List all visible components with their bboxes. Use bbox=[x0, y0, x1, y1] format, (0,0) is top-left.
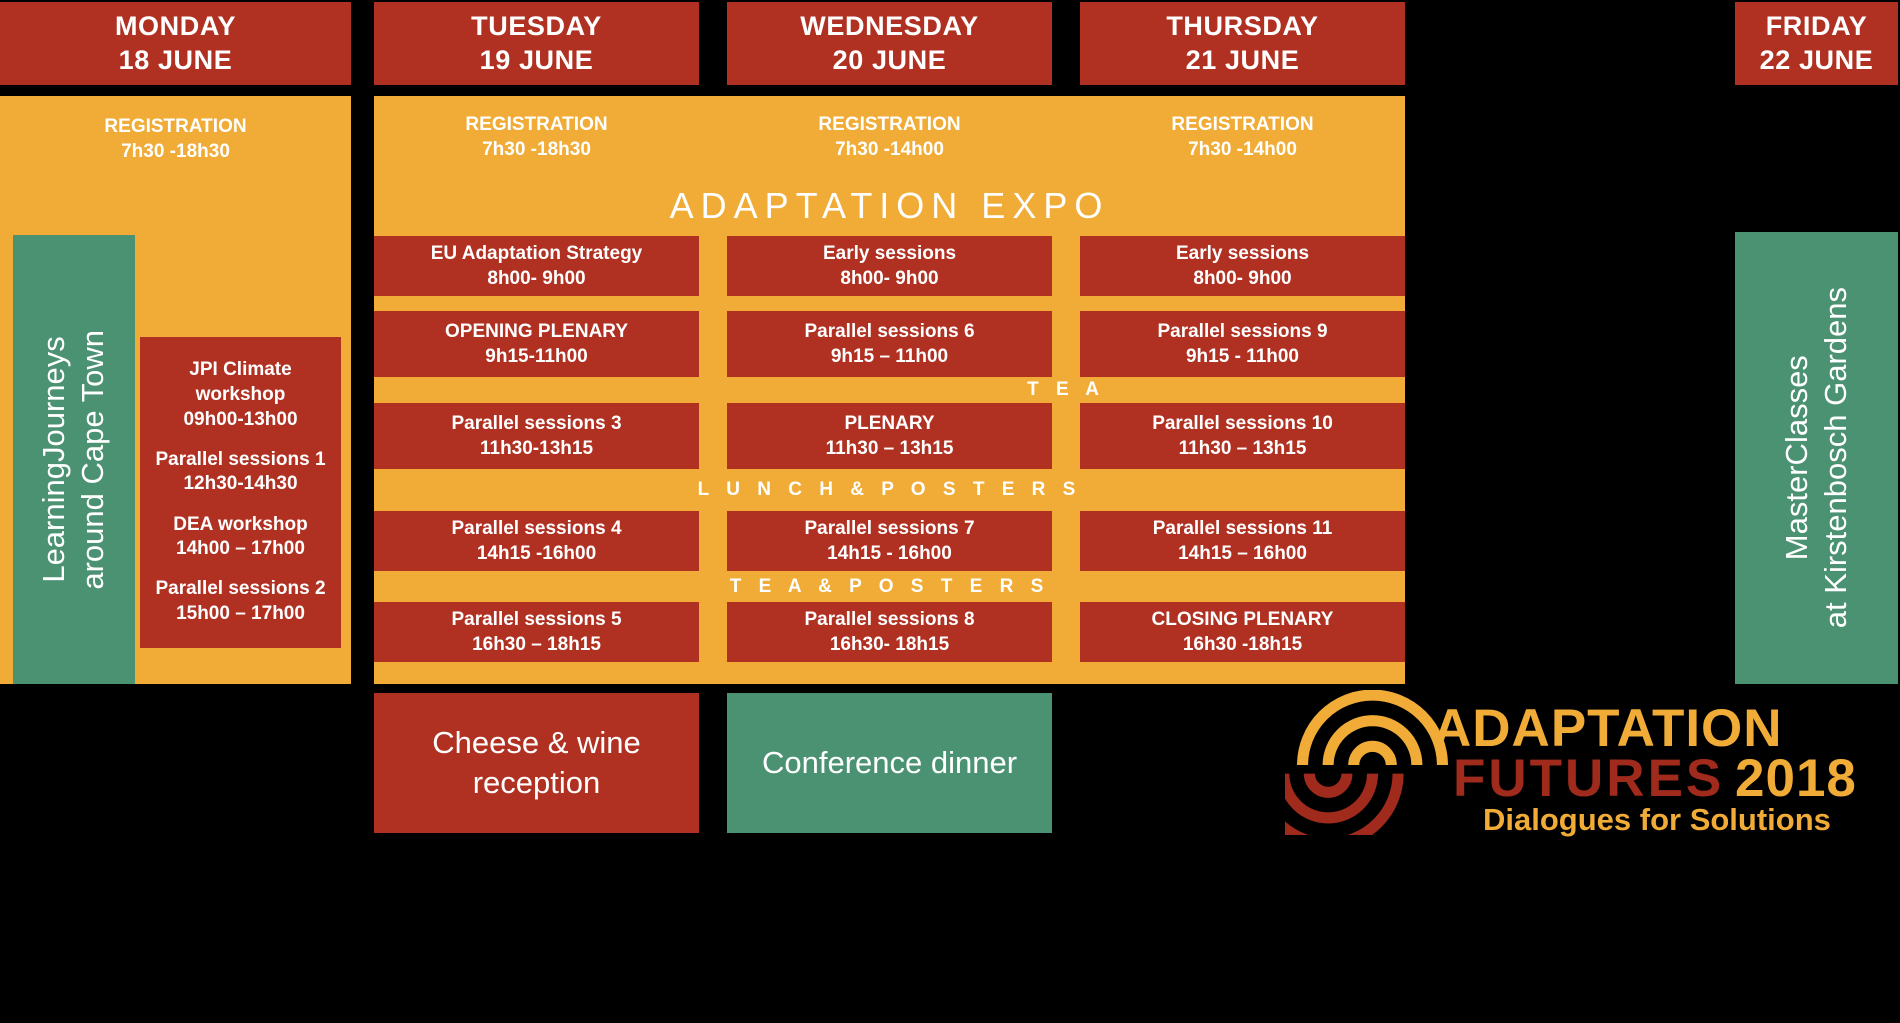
session-title: Parallel sessions 9 bbox=[1157, 319, 1327, 344]
registration-label: REGISTRATION bbox=[104, 115, 246, 140]
registration-time: 7h30 -14h00 bbox=[1188, 138, 1297, 163]
session-time: 12h30-14h30 bbox=[155, 472, 325, 497]
tea-break-band: T E A bbox=[727, 377, 1405, 403]
session-time: 11h30-13h15 bbox=[480, 436, 593, 461]
schedule-poster: MONDAY 18 JUNE TUESDAY 19 JUNE WEDNESDAY… bbox=[0, 0, 1900, 1023]
logo-line-year: 2018 bbox=[1735, 748, 1857, 809]
session-time: 9h15 – 11h00 bbox=[831, 344, 948, 369]
session-title: Parallel sessions 7 bbox=[804, 516, 974, 541]
day-header-thursday: THURSDAY 21 JUNE bbox=[1080, 2, 1405, 85]
adaptation-expo-banner: ADAPTATION EXPO bbox=[374, 180, 1405, 232]
session-time: 11h30 – 13h15 bbox=[1179, 436, 1307, 461]
conference-dinner: Conference dinner bbox=[727, 693, 1052, 833]
session-title: Parallel sessions 10 bbox=[1152, 411, 1333, 436]
day-header-monday: MONDAY 18 JUNE bbox=[0, 2, 351, 85]
registration-time: 7h30 -18h30 bbox=[121, 140, 230, 165]
session-time: 16h30 -18h15 bbox=[1183, 632, 1302, 657]
session-time: 16h30 – 18h15 bbox=[472, 632, 601, 657]
day-name: WEDNESDAY bbox=[800, 11, 978, 43]
registration-label: REGISTRATION bbox=[465, 113, 607, 138]
logo-line-tagline: Dialogues for Solutions bbox=[1483, 802, 1831, 838]
thursday-session-4: Parallel sessions 11 14h15 – 16h00 bbox=[1080, 511, 1405, 571]
session-time: 14h15 - 16h00 bbox=[827, 541, 952, 566]
session-title: Parallel sessions 6 bbox=[804, 319, 974, 344]
day-date: 22 JUNE bbox=[1760, 45, 1874, 77]
session-time: 9h15 - 11h00 bbox=[1186, 344, 1299, 369]
thursday-session-2: Parallel sessions 9 9h15 - 11h00 bbox=[1080, 311, 1405, 377]
day-date: 18 JUNE bbox=[119, 45, 233, 77]
tuesday-session-1: EU Adaptation Strategy 8h00- 9h00 bbox=[374, 236, 699, 296]
day-name: MONDAY bbox=[115, 11, 236, 43]
monday-sessions-block: JPI Climate workshop 09h00-13h00 Paralle… bbox=[140, 337, 341, 648]
masterclasses-label: MasterClasses at Kirstenbosch Gardens bbox=[1778, 287, 1856, 628]
thursday-session-3: Parallel sessions 10 11h30 – 13h15 bbox=[1080, 403, 1405, 469]
day-name: FRIDAY bbox=[1766, 11, 1868, 43]
lunch-posters-label: L U N C H & P O S T E R S bbox=[698, 479, 1082, 501]
session-time: 09h00-13h00 bbox=[183, 408, 297, 433]
wednesday-session-1: Early sessions 8h00- 9h00 bbox=[727, 236, 1052, 296]
session-time: 14h15 – 16h00 bbox=[1178, 541, 1307, 566]
masterclasses-block: MasterClasses at Kirstenbosch Gardens bbox=[1735, 232, 1898, 684]
tea-break-label: T E A bbox=[1027, 379, 1105, 401]
wednesday-session-5: Parallel sessions 8 16h30- 18h15 bbox=[727, 602, 1052, 662]
registration-label: REGISTRATION bbox=[818, 113, 960, 138]
monday-session-item: Parallel sessions 1 12h30-14h30 bbox=[155, 446, 325, 499]
session-title: EU Adaptation Strategy bbox=[431, 241, 643, 266]
session-time: 15h00 – 17h00 bbox=[155, 602, 325, 627]
tuesday-session-2: OPENING PLENARY 9h15-11h00 bbox=[374, 311, 699, 377]
registration-label: REGISTRATION bbox=[1171, 113, 1313, 138]
session-title: Parallel sessions 3 bbox=[451, 411, 621, 436]
session-time: 14h15 -16h00 bbox=[477, 541, 596, 566]
monday-session-item: DEA workshop 14h00 – 17h00 bbox=[173, 511, 307, 564]
tuesday-session-3: Parallel sessions 3 11h30-13h15 bbox=[374, 403, 699, 469]
day-header-friday: FRIDAY 22 JUNE bbox=[1735, 2, 1898, 85]
session-title: Parallel sessions 4 bbox=[451, 516, 621, 541]
session-time: 14h00 – 17h00 bbox=[173, 537, 307, 562]
session-title-line2: workshop bbox=[183, 383, 297, 408]
adaptation-expo-label: ADAPTATION EXPO bbox=[670, 185, 1110, 227]
session-title: DEA workshop bbox=[173, 513, 307, 538]
registration-time: 7h30 -14h00 bbox=[835, 138, 944, 163]
session-time: 9h15-11h00 bbox=[485, 344, 587, 369]
logo-line-futures: FUTURES bbox=[1453, 748, 1724, 809]
session-title: JPI Climate bbox=[183, 358, 297, 383]
evening-event-label: Conference dinner bbox=[762, 743, 1017, 783]
day-date: 20 JUNE bbox=[833, 45, 947, 77]
wednesday-session-3: PLENARY 11h30 – 13h15 bbox=[727, 403, 1052, 469]
session-title: CLOSING PLENARY bbox=[1152, 607, 1334, 632]
wednesday-session-2: Parallel sessions 6 9h15 – 11h00 bbox=[727, 311, 1052, 377]
cheese-wine-reception: Cheese & wine reception bbox=[374, 693, 699, 833]
tea-posters-label: T E A & P O S T E R S bbox=[730, 576, 1050, 598]
learning-journeys-label: LearningJourneys around Cape Town bbox=[35, 330, 113, 590]
day-header-wednesday: WEDNESDAY 20 JUNE bbox=[727, 2, 1052, 85]
day-date: 21 JUNE bbox=[1186, 45, 1300, 77]
day-date: 19 JUNE bbox=[480, 45, 594, 77]
registration-time: 7h30 -18h30 bbox=[482, 138, 591, 163]
session-title: Parallel sessions 8 bbox=[804, 607, 974, 632]
session-title: Early sessions bbox=[823, 241, 956, 266]
adaptation-futures-logo: ADAPTATION FUTURES 2018 Dialogues for So… bbox=[1285, 690, 1895, 835]
monday-registration: REGISTRATION 7h30 -18h30 bbox=[0, 105, 351, 175]
session-title: OPENING PLENARY bbox=[445, 319, 628, 344]
session-time: 8h00- 9h00 bbox=[487, 266, 585, 291]
session-title: Parallel sessions 11 bbox=[1153, 516, 1333, 541]
session-time: 11h30 – 13h15 bbox=[826, 436, 954, 461]
thursday-session-5: CLOSING PLENARY 16h30 -18h15 bbox=[1080, 602, 1405, 662]
tuesday-registration: REGISTRATION 7h30 -18h30 bbox=[374, 105, 699, 171]
tuesday-session-5: Parallel sessions 5 16h30 – 18h15 bbox=[374, 602, 699, 662]
session-time: 16h30- 18h15 bbox=[830, 632, 949, 657]
session-title: Parallel sessions 2 bbox=[155, 577, 325, 602]
session-title: Parallel sessions 1 bbox=[155, 448, 325, 473]
tea-posters-band: T E A & P O S T E R S bbox=[374, 571, 1405, 602]
lunch-posters-band: L U N C H & P O S T E R S bbox=[374, 469, 1405, 511]
thursday-session-1: Early sessions 8h00- 9h00 bbox=[1080, 236, 1405, 296]
evening-event-label: Cheese & wine reception bbox=[432, 723, 641, 804]
tuesday-session-4: Parallel sessions 4 14h15 -16h00 bbox=[374, 511, 699, 571]
wednesday-registration: REGISTRATION 7h30 -14h00 bbox=[727, 105, 1052, 171]
learning-journeys-block: LearningJourneys around Cape Town bbox=[13, 235, 135, 684]
day-name: THURSDAY bbox=[1166, 11, 1318, 43]
session-title: Early sessions bbox=[1176, 241, 1309, 266]
thursday-registration: REGISTRATION 7h30 -14h00 bbox=[1080, 105, 1405, 171]
day-header-tuesday: TUESDAY 19 JUNE bbox=[374, 2, 699, 85]
session-title: PLENARY bbox=[844, 411, 934, 436]
session-time: 8h00- 9h00 bbox=[1193, 266, 1291, 291]
session-title: Parallel sessions 5 bbox=[451, 607, 621, 632]
monday-session-item: Parallel sessions 2 15h00 – 17h00 bbox=[155, 575, 325, 628]
wednesday-session-4: Parallel sessions 7 14h15 - 16h00 bbox=[727, 511, 1052, 571]
session-time: 8h00- 9h00 bbox=[840, 266, 938, 291]
monday-session-item: JPI Climate workshop 09h00-13h00 bbox=[183, 356, 297, 434]
day-name: TUESDAY bbox=[471, 11, 602, 43]
